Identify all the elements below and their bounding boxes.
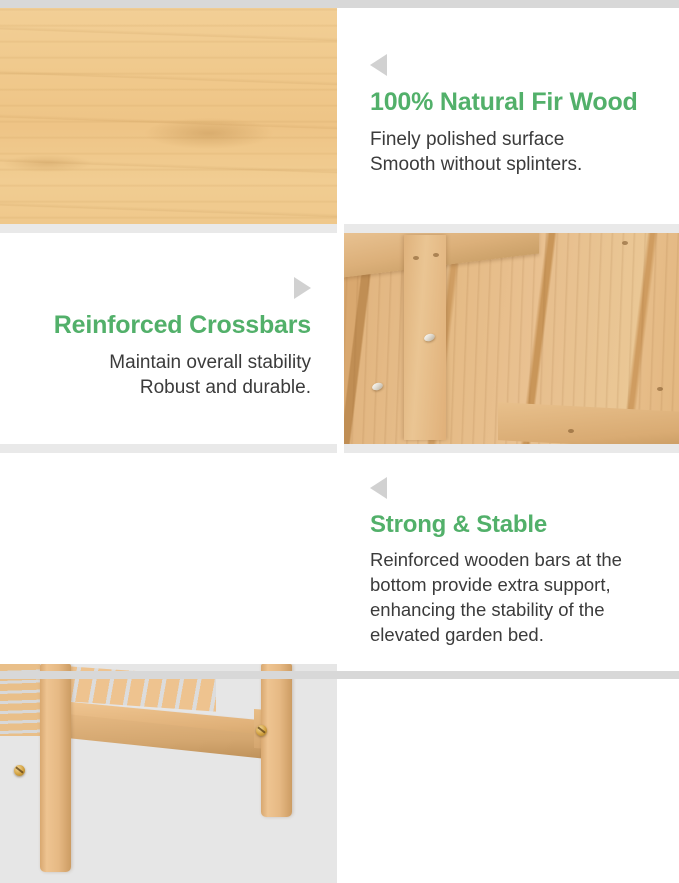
triangle-left-icon [370, 54, 387, 76]
screw-hole [657, 387, 663, 391]
bed-leg-right [261, 664, 291, 817]
screw-hole [413, 256, 419, 260]
bottom-edge-band [0, 671, 679, 679]
grid-divider-vertical [337, 8, 344, 672]
feature-body-line: Maintain overall stability [109, 350, 311, 375]
photo-fir-board-closeup [0, 8, 337, 224]
screw-hole [433, 253, 439, 257]
feature-body-line: Finely polished surface [370, 127, 564, 152]
triangle-left-icon [370, 477, 387, 499]
triangle-right-icon [294, 277, 311, 299]
screw-hole [622, 241, 628, 245]
product-feature-infographic: 100% Natural Fir Wood Finely polished su… [0, 0, 679, 679]
plank-bottom-rail [498, 403, 679, 444]
feature-panel-reinforced-crossbars: Reinforced Crossbars Maintain overall st… [0, 233, 337, 444]
feature-panel-natural-fir-wood: 100% Natural Fir Wood Finely polished su… [344, 8, 679, 224]
feature-headline: Strong & Stable [370, 511, 547, 539]
photo-crossbar-planks-closeup [344, 233, 679, 444]
feature-body-line: elevated garden bed. [370, 623, 544, 648]
photo-legs-and-support-bars [0, 664, 337, 883]
feature-headline: 100% Natural Fir Wood [370, 88, 638, 117]
feature-body-line: Robust and durable. [140, 375, 311, 400]
screw-icon [372, 381, 385, 391]
top-edge-band [0, 0, 679, 8]
brass-screw-icon [14, 765, 25, 776]
feature-body-line: enhancing the stability of the [370, 598, 605, 623]
feature-panel-strong-and-stable: Strong & Stable Reinforced wooden bars a… [344, 453, 679, 672]
feature-body-line: Smooth without splinters. [370, 152, 582, 177]
bed-leg-left [40, 664, 71, 872]
feature-headline: Reinforced Crossbars [54, 311, 311, 340]
feature-body-line: Reinforced wooden bars at the [370, 548, 622, 573]
feature-body-line: bottom provide extra support, [370, 573, 611, 598]
